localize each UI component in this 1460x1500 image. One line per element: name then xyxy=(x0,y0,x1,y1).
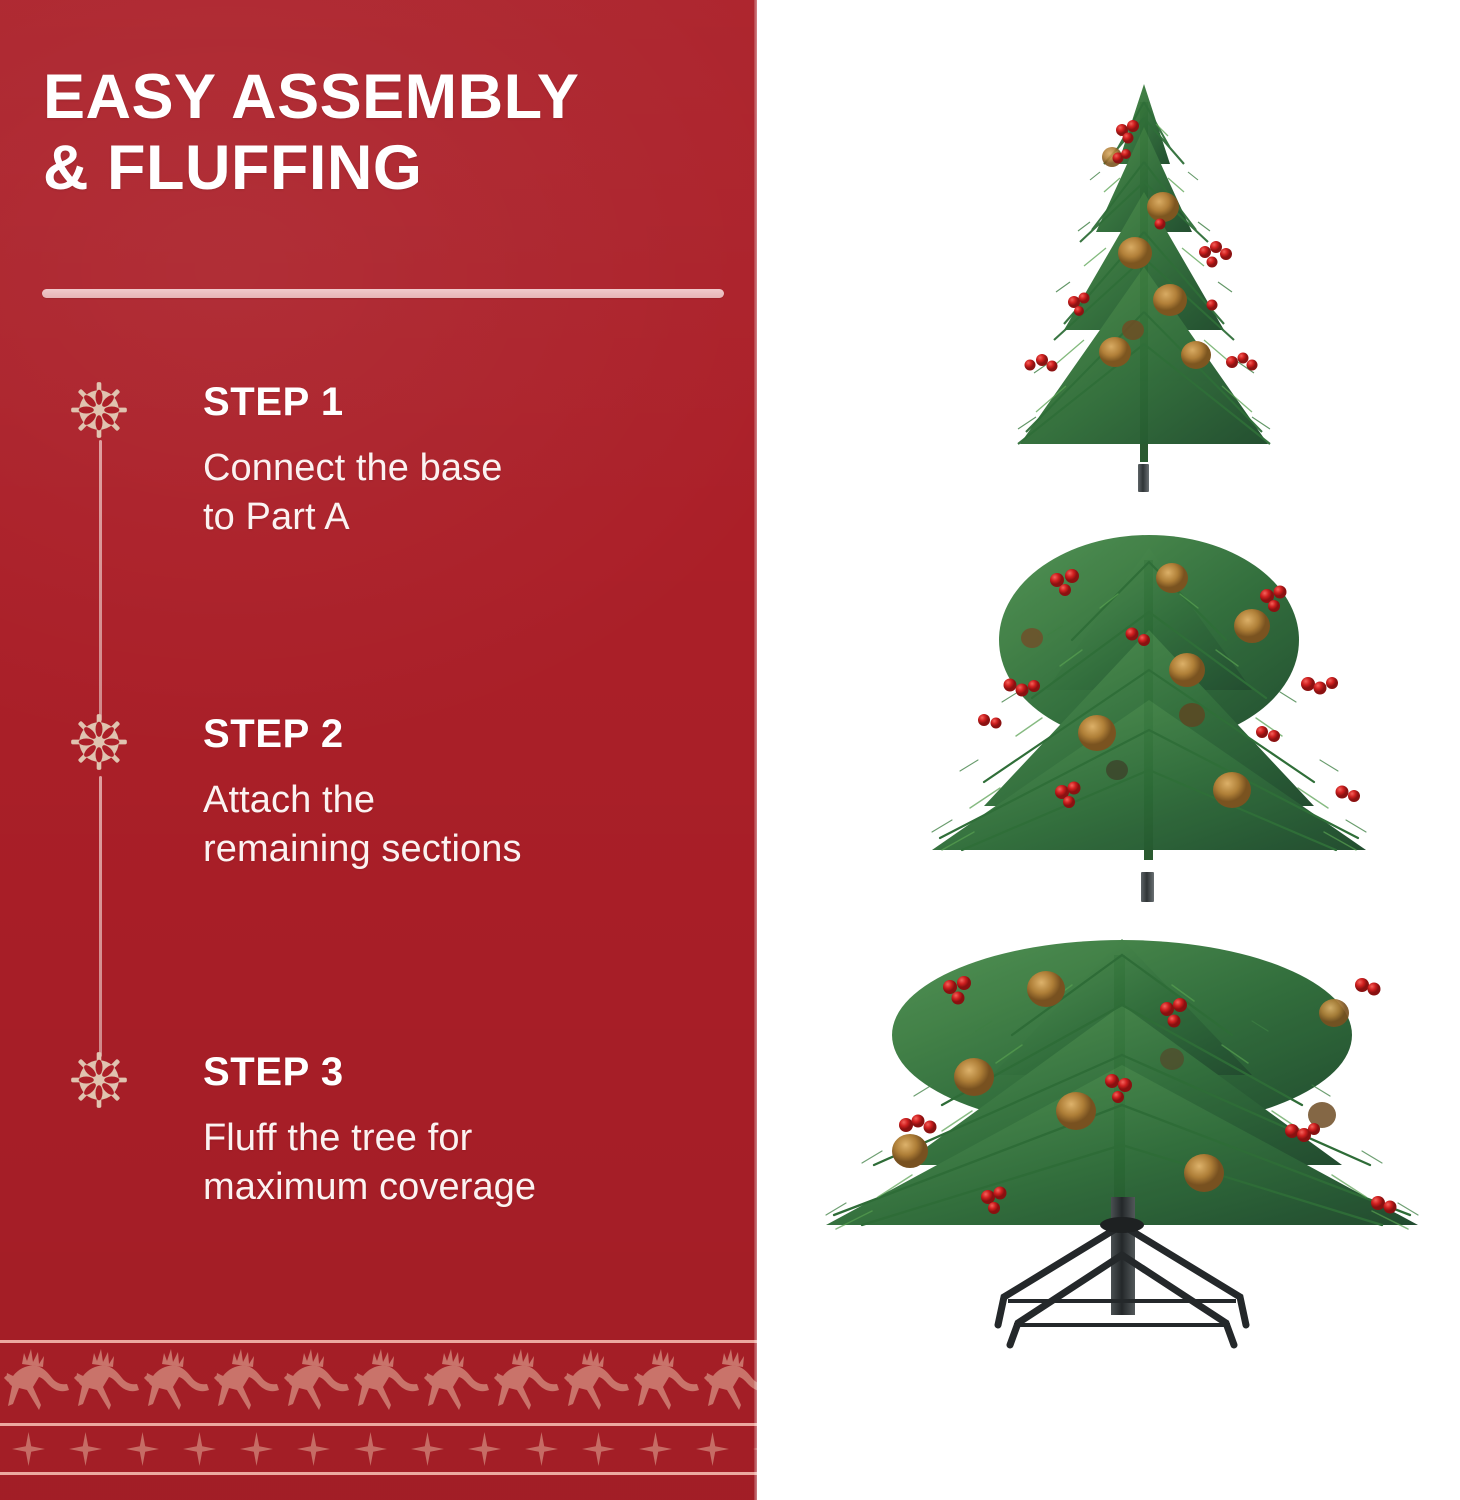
step-connector-line-2 xyxy=(99,776,102,1057)
four-point-star-icon xyxy=(171,1429,228,1469)
bottom-tree-section xyxy=(822,925,1422,1350)
top-section-pole xyxy=(1138,464,1149,492)
step-description-3: Fluff the tree for maximum coverage xyxy=(203,1114,723,1211)
four-point-star-icon xyxy=(228,1429,285,1469)
reindeer-icon xyxy=(490,1346,560,1420)
four-point-star-icon xyxy=(627,1429,684,1469)
reindeer-pattern-row xyxy=(0,1346,757,1420)
four-point-star-icon xyxy=(456,1429,513,1469)
step-description-2: Attach the remaining sections xyxy=(203,776,723,873)
step-description-1-line1: Connect the base xyxy=(203,444,723,493)
step-title-1: STEP 1 xyxy=(203,381,723,423)
four-point-star-icon xyxy=(0,1429,57,1469)
step-description-1-line2: to Part A xyxy=(203,493,723,542)
step-body-2: STEP 2 Attach the remaining sections xyxy=(203,713,723,874)
step-description-3-line2: maximum coverage xyxy=(203,1163,723,1212)
step-connector-line-1 xyxy=(99,440,102,721)
snowflake-icon xyxy=(70,713,128,771)
reindeer-icon xyxy=(700,1346,757,1420)
product-photo xyxy=(757,0,1460,1500)
step-title-2: STEP 2 xyxy=(203,713,723,755)
four-point-star-icon xyxy=(399,1429,456,1469)
four-point-star-icon xyxy=(570,1429,627,1469)
decorative-bottom-border xyxy=(0,1330,757,1500)
step-description-3-line1: Fluff the tree for xyxy=(203,1114,723,1163)
snowflake-icon xyxy=(70,381,128,439)
star-pattern-row xyxy=(0,1429,757,1469)
reindeer-icon xyxy=(560,1346,630,1420)
middle-tree-section xyxy=(922,520,1377,935)
left-red-panel: EASY ASSEMBLY & FLUFFING xyxy=(0,0,757,1500)
step-title-3: STEP 3 xyxy=(203,1051,723,1093)
step-description-2-line2: remaining sections xyxy=(203,825,723,874)
step-description-1: Connect the base to Part A xyxy=(203,444,723,541)
four-point-star-icon xyxy=(57,1429,114,1469)
reindeer-icon xyxy=(70,1346,140,1420)
reindeer-icon xyxy=(280,1346,350,1420)
step-body-1: STEP 1 Connect the base to Part A xyxy=(203,381,723,542)
step-body-3: STEP 3 Fluff the tree for maximum covera… xyxy=(203,1051,723,1212)
reindeer-icon xyxy=(140,1346,210,1420)
reindeer-icon xyxy=(210,1346,280,1420)
infographic-root: EASY ASSEMBLY & FLUFFING xyxy=(0,0,1460,1500)
four-point-star-icon xyxy=(342,1429,399,1469)
four-point-star-icon xyxy=(684,1429,741,1469)
four-point-star-icon xyxy=(513,1429,570,1469)
top-tree-section xyxy=(1000,72,1292,527)
snowflake-icon xyxy=(70,1051,128,1109)
border-rule-top xyxy=(0,1340,757,1343)
four-point-star-icon xyxy=(285,1429,342,1469)
reindeer-icon xyxy=(350,1346,420,1420)
middle-section-pole xyxy=(1141,872,1154,902)
reindeer-icon xyxy=(630,1346,700,1420)
border-rule-middle xyxy=(0,1423,757,1426)
reindeer-icon xyxy=(420,1346,490,1420)
steps-list: STEP 1 Connect the base to Part A xyxy=(0,0,757,1500)
four-point-star-icon xyxy=(114,1429,171,1469)
step-description-2-line1: Attach the xyxy=(203,776,723,825)
border-rule-bottom xyxy=(0,1472,757,1475)
reindeer-icon xyxy=(0,1346,70,1420)
